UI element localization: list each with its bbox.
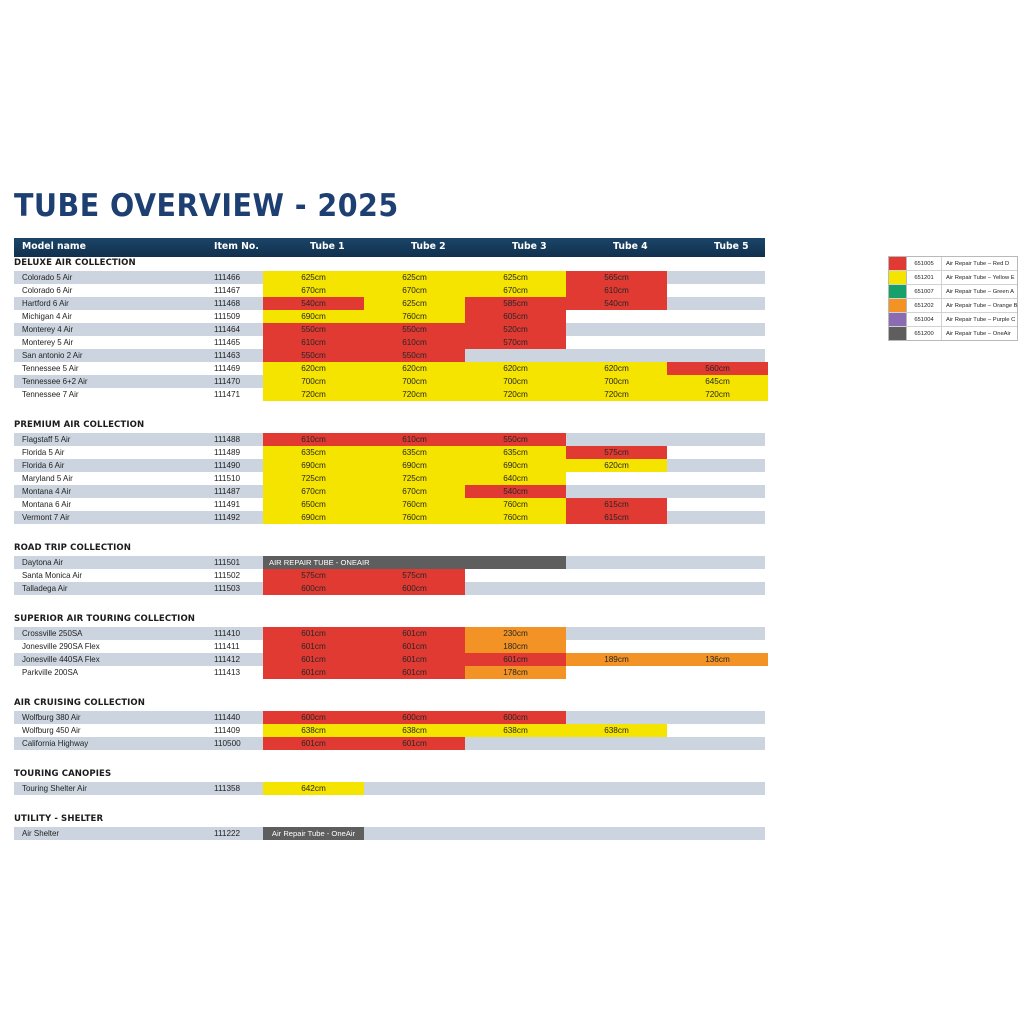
column-header-t1: Tube 1 <box>310 241 345 252</box>
legend-item-number: 651007 <box>907 285 942 298</box>
cell-value: 601cm <box>263 655 364 664</box>
row-model-name: Maryland 5 Air <box>22 474 73 483</box>
cell-value: 601cm <box>364 629 465 638</box>
column-header-t4: Tube 4 <box>613 241 648 252</box>
cell-value: Air Repair Tube - OneAir <box>263 829 364 838</box>
group-title: DELUXE AIR COLLECTION <box>14 258 136 268</box>
table-row[interactable]: 601cm601cm230cmCrossville 250SA111410 <box>14 627 765 640</box>
table-row[interactable]: 700cm700cm700cm700cm645cmTennessee 6+2 A… <box>14 375 765 388</box>
cell-value: 690cm <box>364 461 465 470</box>
row-item-number: 111470 <box>214 377 240 386</box>
legend-row: 651007Air Repair Tube – Green A <box>889 285 1017 299</box>
row-model-name: Tennessee 6+2 Air <box>22 377 88 386</box>
cell-value: 670cm <box>263 487 364 496</box>
row-model-name: Air Shelter <box>22 829 59 838</box>
cell-value: 575cm <box>566 448 667 457</box>
cell-value: 690cm <box>263 513 364 522</box>
row-model-name: Michigan 4 Air <box>22 312 72 321</box>
table-row[interactable]: 690cm760cm605cmMichigan 4 Air111509 <box>14 310 765 323</box>
row-model-name: Tennessee 5 Air <box>22 364 79 373</box>
cell-value: 600cm <box>364 713 465 722</box>
row-item-number: 111410 <box>214 629 240 638</box>
group-title: ROAD TRIP COLLECTION <box>14 543 131 553</box>
legend-item-label: Air Repair Tube – Orange B <box>942 299 1018 312</box>
cell-value: 570cm <box>465 338 566 347</box>
cell-value: 189cm <box>566 655 667 664</box>
legend-row: 651202Air Repair Tube – Orange B <box>889 299 1017 313</box>
column-header-item: Item No. <box>214 241 259 252</box>
legend-item-number: 651202 <box>907 299 942 312</box>
row-item-number: 111409 <box>214 726 240 735</box>
cell-value: 725cm <box>364 474 465 483</box>
cell-value: 690cm <box>263 312 364 321</box>
cell-value: 638cm <box>465 726 566 735</box>
row-item-number: 111358 <box>214 784 240 793</box>
row-model-name: Monterey 4 Air <box>22 325 73 334</box>
legend-item-number: 651200 <box>907 327 942 340</box>
group-title: PREMIUM AIR COLLECTION <box>14 420 144 430</box>
legend-item-label: Air Repair Tube – Yellow E <box>942 271 1017 284</box>
cell-value: 615cm <box>566 500 667 509</box>
cell-value: 550cm <box>364 325 465 334</box>
row-item-number: 111510 <box>214 474 240 483</box>
table-row[interactable]: 610cm610cm550cmFlagstaff 5 Air111488 <box>14 433 765 446</box>
cell-value: 540cm <box>465 487 566 496</box>
cell-value: 625cm <box>364 273 465 282</box>
row-item-number: 111466 <box>214 273 240 282</box>
table-row[interactable]: 550cm550cmSan antonio 2 Air111463 <box>14 349 765 362</box>
row-item-number: 110500 <box>214 739 241 748</box>
table-row[interactable]: 690cm760cm760cm615cmVermont 7 Air111492 <box>14 511 765 524</box>
table-body: DELUXE AIR COLLECTION625cm625cm625cm565c… <box>14 257 765 840</box>
cell-value: 638cm <box>364 726 465 735</box>
row-model-name: Santa Monica Air <box>22 571 82 580</box>
legend-item-label: Air Repair Tube – Red D <box>942 257 1017 270</box>
row-model-name: Daytona Air <box>22 558 63 567</box>
table-row[interactable]: 540cm625cm585cm540cmHartford 6 Air111468 <box>14 297 765 310</box>
table-row[interactable]: 690cm690cm690cm620cmFlorida 6 Air111490 <box>14 459 765 472</box>
cell-value: 610cm <box>566 286 667 295</box>
cell-value: 575cm <box>263 571 364 580</box>
row-model-name: Montana 6 Air <box>22 500 71 509</box>
row-item-number: 111492 <box>214 513 240 522</box>
table-header-row: Model nameItem No.Tube 1Tube 2Tube 3Tube… <box>14 238 765 257</box>
cell-value: 560cm <box>667 364 768 373</box>
cell-value: AIR REPAIR TUBE - ONEAIR <box>269 558 572 567</box>
cell-value: 635cm <box>465 448 566 457</box>
table-row[interactable]: 601cm601cm180cmJonesville 290SA Flex1114… <box>14 640 765 653</box>
cell-value: 600cm <box>465 713 566 722</box>
cell-value: 520cm <box>465 325 566 334</box>
row-item-number: 111413 <box>214 668 240 677</box>
row-model-name: Wolfburg 450 Air <box>22 726 81 735</box>
table-row[interactable]: 720cm720cm720cm720cm720cmTennessee 7 Air… <box>14 388 765 401</box>
row-model-name: Talladega Air <box>22 584 67 593</box>
table-row[interactable]: 725cm725cm640cmMaryland 5 Air111510 <box>14 472 765 485</box>
group-title: UTILITY - SHELTER <box>14 814 103 824</box>
row-model-name: Jonesville 290SA Flex <box>22 642 100 651</box>
cell-value: 635cm <box>263 448 364 457</box>
cell-value: 601cm <box>263 739 364 748</box>
cell-value: 550cm <box>263 325 364 334</box>
table-row[interactable]: 635cm635cm635cm575cmFlorida 5 Air111489 <box>14 446 765 459</box>
table-row[interactable]: 550cm550cm520cmMonterey 4 Air111464 <box>14 323 765 336</box>
legend-item-label: Air Repair Tube – Green A <box>942 285 1017 298</box>
table-row[interactable]: 600cm600cm600cmWolfburg 380 Air111440 <box>14 711 765 724</box>
legend-row: 651005Air Repair Tube – Red D <box>889 257 1017 271</box>
cell-value: 725cm <box>263 474 364 483</box>
row-model-name: Monterey 5 Air <box>22 338 73 347</box>
table-row[interactable]: 601cm601cm178cmParkville 200SA111413 <box>14 666 765 679</box>
cell-value: 720cm <box>667 390 768 399</box>
table-row[interactable]: 642cmTouring Shelter Air111358 <box>14 782 765 795</box>
row-model-name: Wolfburg 380 Air <box>22 713 81 722</box>
row-model-name: California Highway <box>22 739 88 748</box>
cell-value: 601cm <box>465 655 566 664</box>
page-title: TUBE OVERVIEW - 2025 <box>14 188 399 224</box>
cell-value: 600cm <box>263 713 364 722</box>
legend-item-number: 651201 <box>907 271 942 284</box>
legend-item-number: 651005 <box>907 257 942 270</box>
table-row[interactable]: 601cm601cm601cm189cm136cmJonesville 440S… <box>14 653 765 666</box>
row-item-number: 111501 <box>214 558 240 567</box>
cell-value: 642cm <box>263 784 364 793</box>
row-model-name: Florida 6 Air <box>22 461 64 470</box>
cell-value: 605cm <box>465 312 566 321</box>
tube-overview-sheet: TUBE OVERVIEW - 2025 Model nameItem No.T… <box>0 0 1024 1024</box>
cell-value: 625cm <box>364 299 465 308</box>
cell-value: 620cm <box>566 461 667 470</box>
row-model-name: Crossville 250SA <box>22 629 82 638</box>
cell-value: 670cm <box>263 286 364 295</box>
table-row[interactable]: 650cm760cm760cm615cmMontana 6 Air111491 <box>14 498 765 511</box>
cell-value: 720cm <box>465 390 566 399</box>
legend-row: 651200Air Repair Tube – OneAir <box>889 327 1017 340</box>
row-item-number: 111468 <box>214 299 240 308</box>
row-item-number: 111222 <box>214 829 240 838</box>
cell-value: 625cm <box>263 273 364 282</box>
row-item-number: 111469 <box>214 364 240 373</box>
row-model-name: Touring Shelter Air <box>22 784 87 793</box>
row-item-number: 111463 <box>214 351 240 360</box>
table-row[interactable]: 620cm620cm620cm620cm560cmTennessee 5 Air… <box>14 362 765 375</box>
cell-value: 610cm <box>364 435 465 444</box>
legend: 651005Air Repair Tube – Red D651201Air R… <box>888 256 1018 341</box>
legend-swatch-gray <box>889 327 907 340</box>
column-header-t3: Tube 3 <box>512 241 547 252</box>
cell-value: 700cm <box>364 377 465 386</box>
cell-value: 760cm <box>364 513 465 522</box>
cell-value: 700cm <box>566 377 667 386</box>
cell-value: 635cm <box>364 448 465 457</box>
cell-value: 540cm <box>566 299 667 308</box>
cell-value: 565cm <box>566 273 667 282</box>
row-model-name: San antonio 2 Air <box>22 351 83 360</box>
row-model-name: Florida 5 Air <box>22 448 64 457</box>
legend-swatch-purple <box>889 313 907 326</box>
row-model-name: Vermont 7 Air <box>22 513 70 522</box>
legend-row: 651201Air Repair Tube – Yellow E <box>889 271 1017 285</box>
row-item-number: 111491 <box>214 500 240 509</box>
cell-value: 601cm <box>364 668 465 677</box>
cell-value: 700cm <box>263 377 364 386</box>
cell-value: 540cm <box>263 299 364 308</box>
row-item-number: 111509 <box>214 312 240 321</box>
cell-value: 720cm <box>263 390 364 399</box>
cell-value: 638cm <box>263 726 364 735</box>
column-header-t2: Tube 2 <box>411 241 446 252</box>
cell-value: 550cm <box>364 351 465 360</box>
cell-value: 760cm <box>465 500 566 509</box>
cell-value: 610cm <box>263 338 364 347</box>
row-item-number: 111503 <box>214 584 240 593</box>
table-row[interactable]: 625cm625cm625cm565cmColorado 5 Air111466 <box>14 271 765 284</box>
row-model-name: Tennessee 7 Air <box>22 390 79 399</box>
cell-value: 601cm <box>364 655 465 664</box>
row-model-name: Parkville 200SA <box>22 668 78 677</box>
cell-value: 610cm <box>263 435 364 444</box>
cell-value: 638cm <box>566 726 667 735</box>
cell-value: 575cm <box>364 571 465 580</box>
row-model-name: Jonesville 440SA Flex <box>22 655 100 664</box>
row-model-name: Colorado 6 Air <box>22 286 72 295</box>
cell-value: 601cm <box>364 739 465 748</box>
cell-value: 645cm <box>667 377 768 386</box>
table-row[interactable]: 610cm610cm570cmMonterey 5 Air111465 <box>14 336 765 349</box>
cell-value: 615cm <box>566 513 667 522</box>
row-item-number: 111464 <box>214 325 240 334</box>
cell-value: 550cm <box>263 351 364 360</box>
column-header-model: Model name <box>22 241 86 252</box>
row-model-name: Hartford 6 Air <box>22 299 69 308</box>
row-item-number: 111412 <box>214 655 240 664</box>
table-row[interactable]: 670cm670cm540cmMontana 4 Air111487 <box>14 485 765 498</box>
cell-value: 760cm <box>364 500 465 509</box>
table-row[interactable]: 670cm670cm670cm610cmColorado 6 Air111467 <box>14 284 765 297</box>
cell-value: 610cm <box>364 338 465 347</box>
legend-swatch-green <box>889 285 907 298</box>
group-title: AIR CRUISING COLLECTION <box>14 698 145 708</box>
cell-value: 601cm <box>263 629 364 638</box>
cell-value: 760cm <box>364 312 465 321</box>
cell-value: 620cm <box>566 364 667 373</box>
cell-value: 640cm <box>465 474 566 483</box>
cell-value: 690cm <box>263 461 364 470</box>
row-item-number: 111411 <box>214 642 240 651</box>
table-row[interactable]: 638cm638cm638cm638cmWolfburg 450 Air1114… <box>14 724 765 737</box>
cell-value: 620cm <box>263 364 364 373</box>
group-title: SUPERIOR AIR TOURING COLLECTION <box>14 614 195 624</box>
row-item-number: 111502 <box>214 571 240 580</box>
cell-value: 601cm <box>263 668 364 677</box>
cell-value: 625cm <box>465 273 566 282</box>
cell-value: 550cm <box>465 435 566 444</box>
legend-swatch-red <box>889 257 907 270</box>
cell-value: 601cm <box>364 642 465 651</box>
cell-value: 230cm <box>465 629 566 638</box>
cell-value: 600cm <box>263 584 364 593</box>
cell-value: 601cm <box>263 642 364 651</box>
cell-value: 670cm <box>364 487 465 496</box>
cell-value: 720cm <box>566 390 667 399</box>
row-item-number: 111465 <box>214 338 240 347</box>
cell-value: 650cm <box>263 500 364 509</box>
legend-item-label: Air Repair Tube – Purple C <box>942 313 1017 326</box>
row-item-number: 111467 <box>214 286 240 295</box>
table-row[interactable]: AIR REPAIR TUBE - ONEAIRDaytona Air11150… <box>14 556 765 569</box>
tube-overview-table: Model nameItem No.Tube 1Tube 2Tube 3Tube… <box>14 238 765 840</box>
legend-item-number: 651004 <box>907 313 942 326</box>
legend-swatch-orange <box>889 299 907 312</box>
table-row[interactable]: 575cm575cmSanta Monica Air111502 <box>14 569 765 582</box>
column-header-t5: Tube 5 <box>714 241 749 252</box>
group-title: TOURING CANOPIES <box>14 769 111 779</box>
table-row[interactable]: 601cm601cmCalifornia Highway110500 <box>14 737 765 750</box>
cell-value: 136cm <box>667 655 768 664</box>
row-item-number: 111488 <box>214 435 240 444</box>
cell-value: 670cm <box>364 286 465 295</box>
row-item-number: 111471 <box>214 390 240 399</box>
row-item-number: 111440 <box>214 713 240 722</box>
cell-value: 585cm <box>465 299 566 308</box>
cell-value: 620cm <box>465 364 566 373</box>
cell-value: 690cm <box>465 461 566 470</box>
table-row[interactable]: 600cm600cmTalladega Air111503 <box>14 582 765 595</box>
cell-value: 670cm <box>465 286 566 295</box>
row-model-name: Flagstaff 5 Air <box>22 435 70 444</box>
cell-value: 178cm <box>465 668 566 677</box>
cell-value: 620cm <box>364 364 465 373</box>
legend-swatch-yellow <box>889 271 907 284</box>
legend-row: 651004Air Repair Tube – Purple C <box>889 313 1017 327</box>
cell-value: 180cm <box>465 642 566 651</box>
row-model-name: Montana 4 Air <box>22 487 71 496</box>
cell-value: 700cm <box>465 377 566 386</box>
legend-item-label: Air Repair Tube – OneAir <box>942 327 1017 340</box>
row-item-number: 111490 <box>214 461 240 470</box>
cell-value: 600cm <box>364 584 465 593</box>
row-item-number: 111487 <box>214 487 240 496</box>
row-model-name: Colorado 5 Air <box>22 273 72 282</box>
cell-value: 760cm <box>465 513 566 522</box>
table-row[interactable]: Air Repair Tube - OneAirAir Shelter11122… <box>14 827 765 840</box>
cell-value: 720cm <box>364 390 465 399</box>
row-item-number: 111489 <box>214 448 240 457</box>
